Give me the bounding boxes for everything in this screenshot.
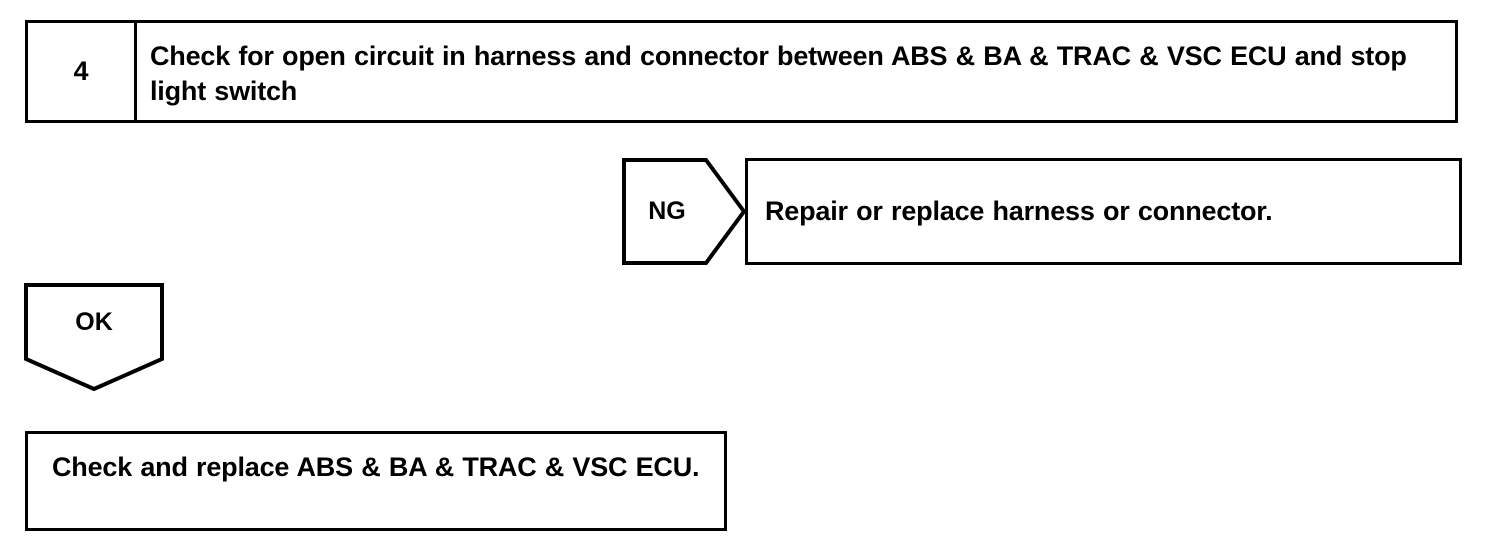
step-row: 4 Check for open circuit in harness and … — [25, 20, 1458, 123]
ng-label: NG — [622, 158, 712, 265]
ng-result-box: Repair or replace harness or connector. — [745, 158, 1462, 265]
step-number: 4 — [73, 58, 88, 85]
ok-label: OK — [24, 283, 164, 361]
step-number-cell: 4 — [28, 23, 137, 120]
flowchart-page: 4 Check for open circuit in harness and … — [0, 0, 1504, 556]
step-instruction-text: Check for open circuit in harness and co… — [150, 41, 1407, 106]
ok-result-text: Check and replace ABS & BA & TRAC & VSC … — [52, 452, 699, 482]
ng-result-text: Repair or replace harness or connector. — [765, 195, 1272, 229]
step-instruction-cell: Check for open circuit in harness and co… — [137, 23, 1455, 120]
ok-result-box: Check and replace ABS & BA & TRAC & VSC … — [25, 431, 727, 531]
